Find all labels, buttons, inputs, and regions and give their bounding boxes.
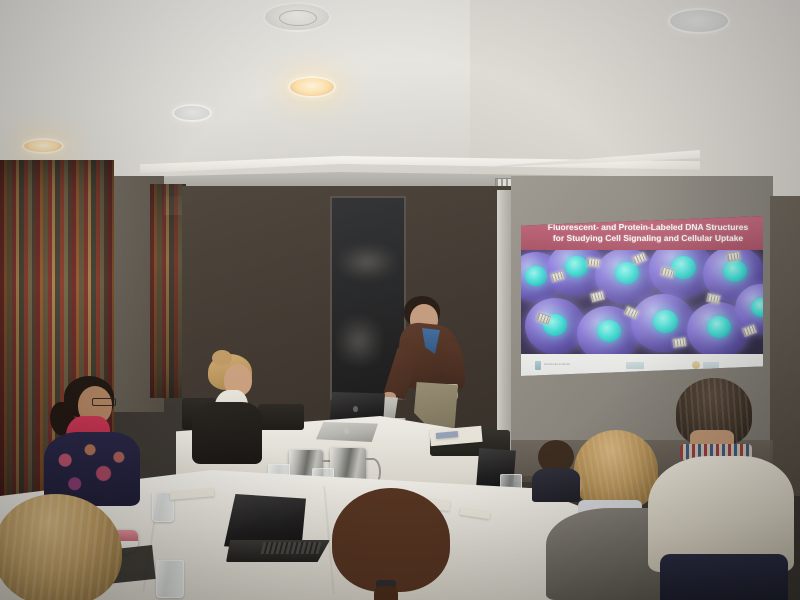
logo-mark-icon	[692, 361, 700, 369]
laptop-macbook-center[interactable]	[316, 422, 378, 442]
cell-nucleus	[597, 320, 621, 342]
dna-origami-marker	[586, 257, 600, 268]
dna-origami-marker	[590, 291, 605, 303]
cell-nucleus	[653, 310, 678, 333]
laptop-black-keyboard[interactable]	[261, 542, 322, 554]
attendee-navy-lower	[660, 554, 788, 600]
logo-center	[626, 362, 644, 369]
slide-title-line-1: Fluorescent- and Protein-Labeled DNA Str…	[527, 222, 763, 233]
downlight-upper-right	[288, 76, 336, 98]
cell-nucleus	[525, 266, 547, 286]
ceiling-vent-disc-icon	[263, 2, 331, 32]
apple-logo-icon	[353, 406, 358, 412]
glass-reflection	[338, 244, 396, 280]
drinking-glass-foreground-left[interactable]	[156, 560, 184, 598]
downlight-front-left	[22, 138, 64, 154]
downlight-rim	[288, 76, 336, 98]
attendee-hair-blonde	[0, 494, 122, 600]
cell-nucleus	[707, 316, 731, 338]
logo-left-label: Karolinska Institutet	[544, 363, 570, 366]
attendee-woman-glasses	[44, 376, 162, 506]
glass-reflection	[336, 316, 382, 366]
downlight-far-right	[668, 8, 730, 34]
attendee-partial-behind	[538, 440, 578, 500]
attendee-woman-blonde-updo	[192, 354, 278, 464]
apple-logo-icon	[344, 428, 349, 434]
cell-nucleus	[565, 256, 588, 277]
attendee-jacket	[192, 402, 262, 464]
attendee-ponytail-tail	[374, 586, 398, 600]
attendee-foreground-ponytail	[332, 488, 454, 600]
curtain-shading	[150, 184, 186, 398]
cell-nucleus	[671, 256, 696, 279]
curtain-left-secondary	[150, 184, 186, 398]
cell-nucleus	[723, 260, 747, 282]
attendee-hair-brown	[332, 488, 450, 592]
downlight-rim	[668, 8, 730, 34]
cell-nucleus	[615, 262, 639, 284]
dna-origami-marker	[672, 337, 686, 348]
slide-cell-image: Fluorescence micrograph of cultured cell…	[521, 250, 763, 354]
downlight-rim	[22, 138, 64, 154]
conference-room-photo: Fluorescent- and Protein-Labeled DNA Str…	[0, 0, 800, 600]
downlight-center	[172, 104, 212, 122]
logo-karolinska: Karolinska Institutet	[535, 361, 570, 370]
logo-mark-icon	[703, 362, 719, 368]
downlight-rim	[172, 104, 212, 122]
attendee-torso-partial	[532, 468, 580, 502]
presentation-slide: Fluorescent- and Protein-Labeled DNA Str…	[521, 216, 763, 376]
attendee-hair-bun	[212, 350, 232, 366]
logo-mark-icon	[626, 362, 644, 369]
logo-mark-icon	[535, 361, 541, 370]
projection-screen: Fluorescent- and Protein-Labeled DNA Str…	[521, 216, 763, 376]
glasses-icon	[92, 398, 116, 406]
slide-image-caption: Fluorescence micrograph of cultured cell…	[521, 250, 522, 251]
attendee-hair-blond-short	[574, 430, 658, 510]
attendee-man-cream-sweater	[654, 378, 800, 600]
slide-title-line-2: for Studying Cell Signaling and Cellular…	[527, 233, 763, 244]
logo-right	[692, 361, 719, 369]
attendee-foreground-blonde	[0, 494, 130, 600]
